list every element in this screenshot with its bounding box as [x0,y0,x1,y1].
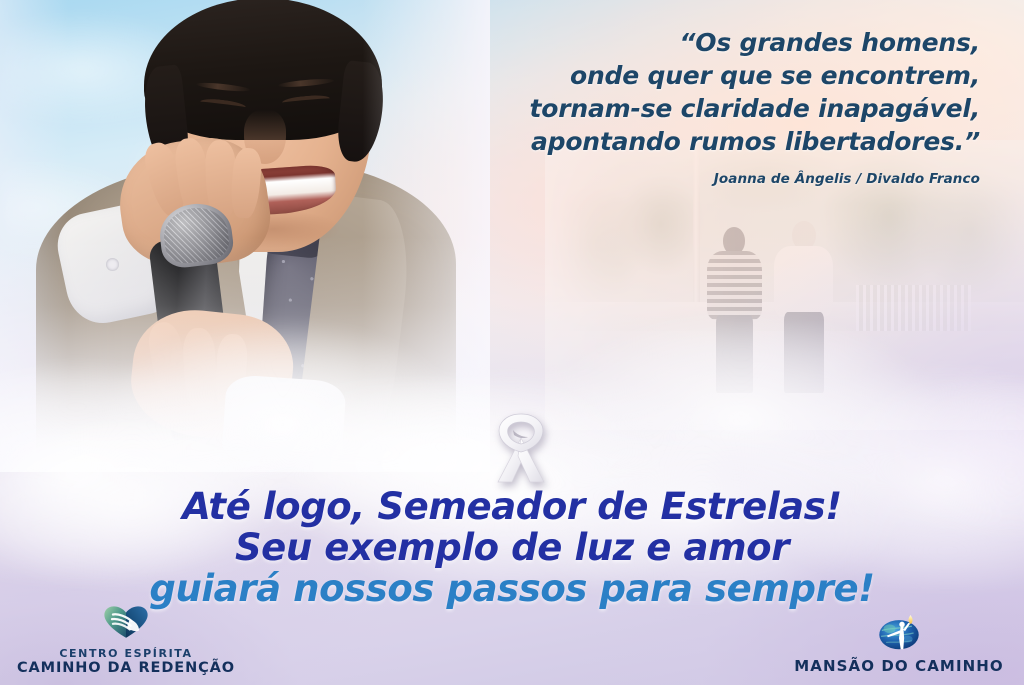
quote-line-3: tornam-se claridade inapagável, [440,92,980,125]
cuff-button [106,258,119,271]
logo-left-line-2: CAMINHO DA REDENÇÃO [6,660,246,677]
white-mourning-ribbon-icon [486,408,556,484]
memorial-poster: “Os grandes homens, onde quer que se enc… [0,0,1024,685]
quote-line-2: onde quer que se encontrem, [440,59,980,92]
quote-line-4: apontando rumos libertadores.” [440,125,980,158]
logo-right-line-1: MANSÃO DO CAMINHO [784,658,1014,675]
headline-line-1: Até logo, Semeador de Estrelas! [0,486,1024,527]
globe-figure-flame-icon [784,615,1014,656]
heart-hands-icon [6,602,246,645]
logo-left-line-1: CENTRO ESPÍRITA [6,647,246,660]
headline-block: Até logo, Semeador de Estrelas! Seu exem… [0,486,1024,609]
logo-centro-espirita[interactable]: CENTRO ESPÍRITA CAMINHO DA REDENÇÃO [6,602,246,677]
headline-line-2: Seu exemplo de luz e amor [0,527,1024,568]
quote-line-1: “Os grandes homens, [440,26,980,59]
quote-attribution: Joanna de Ângelis / Divaldo Franco [440,171,980,187]
logo-mansao-do-caminho[interactable]: MANSÃO DO CAMINHO [784,615,1014,675]
hair-side-right [335,60,387,164]
quote-block: “Os grandes homens, onde quer que se enc… [440,26,980,187]
